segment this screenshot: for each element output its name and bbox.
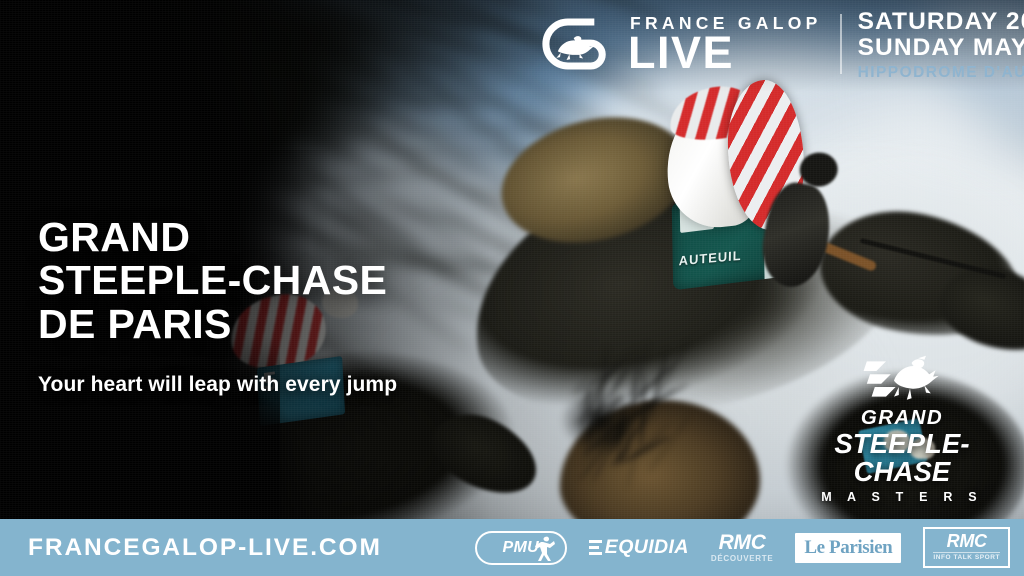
event-venue: HIPPODROME D'AUTEUIL — [858, 65, 1024, 81]
page-title-line-2: STEEPLE-CHASE — [38, 259, 397, 302]
france-galop-g-horse-logo — [538, 13, 626, 75]
sponsor-sublabel: INFO TALK SPORT — [933, 552, 1000, 562]
page-title-line-3: DE PARIS — [38, 303, 397, 346]
sponsor-logo-rmc-info-talk-sport[interactable]: RMC INFO TALK SPORT — [923, 527, 1010, 568]
france-galop-live-wordmark: FRANCE GALOP LIVE — [628, 15, 822, 73]
equidia-bars-icon — [589, 540, 602, 556]
website-url[interactable]: FRANCEGALOP-LIVE.COM — [28, 534, 382, 562]
sponsor-label: RMC — [711, 532, 774, 553]
sponsor-logo-rmc-decouverte[interactable]: RMC DÉCOUVERTE — [711, 532, 774, 563]
footer-bar: FRANCEGALOP-LIVE.COM PMU EQUIDIA RMC DÉC… — [0, 519, 1024, 576]
sponsor-logos: PMU EQUIDIA RMC DÉCOUVERTE Le Parisien — [475, 527, 1010, 568]
hero-tagline: Your heart will leap with every jump — [38, 373, 397, 397]
sponsor-label: EQUIDIA — [605, 536, 689, 559]
sponsor-logo-pmu[interactable]: PMU — [475, 531, 567, 565]
poster-canvas: AUTEUIL 5 — [0, 0, 1024, 576]
sponsor-label: RMC — [933, 532, 1000, 550]
masters-line-masters: M A S T E R S — [804, 490, 1000, 504]
masthead-divider — [840, 14, 842, 74]
event-date-line-2: SUNDAY MAY 21 — [858, 36, 1024, 61]
sponsor-logo-equidia[interactable]: EQUIDIA — [589, 536, 689, 559]
hero-copy: GRAND STEEPLE-CHASE DE PARIS Your heart … — [38, 216, 397, 397]
event-date-line-1: SATURDAY 20 AND — [858, 10, 1024, 35]
page-title: GRAND STEEPLE-CHASE DE PARIS — [38, 216, 397, 346]
pmu-jockey-icon — [534, 536, 556, 562]
grand-steeple-chase-masters-badge: GRAND STEEPLE-CHASE M A S T E R S — [804, 353, 1000, 504]
jumping-horse-and-jockey-emblem — [862, 353, 942, 405]
sponsor-label: Le Parisien — [804, 538, 892, 557]
masters-line-steeple-chase: STEEPLE-CHASE — [804, 430, 1000, 486]
masters-line-grand: GRAND — [804, 408, 1000, 429]
sponsor-logo-le-parisien[interactable]: Le Parisien — [795, 533, 901, 563]
sponsor-sublabel: DÉCOUVERTE — [711, 555, 774, 563]
masthead: FRANCE GALOP LIVE SATURDAY 20 AND SUNDAY… — [538, 8, 1024, 81]
event-date-block: SATURDAY 20 AND SUNDAY MAY 21 HIPPODROME… — [858, 8, 1024, 81]
brand-line-live: LIVE — [628, 32, 822, 73]
page-title-line-1: GRAND — [38, 216, 397, 259]
